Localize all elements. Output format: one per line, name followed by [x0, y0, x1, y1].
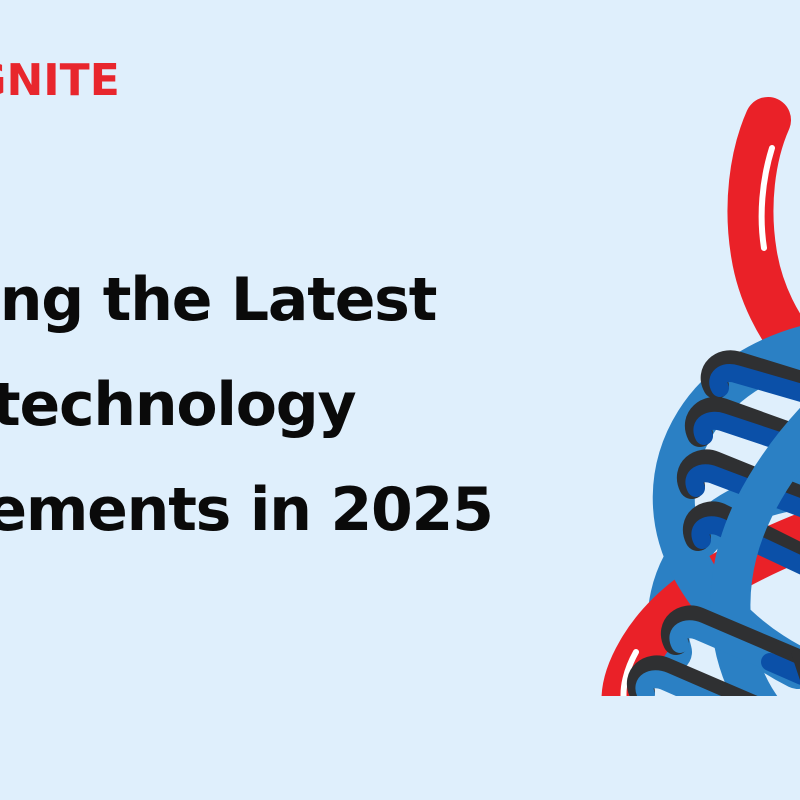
- site-logo[interactable]: IGNITE: [0, 54, 120, 108]
- headline-line-3: cements in 2025: [0, 458, 592, 563]
- page-title: ring the Latest otechnology cements in 2…: [0, 248, 592, 563]
- headline-line-1: ring the Latest: [0, 248, 592, 353]
- headline-line-2: otechnology: [0, 353, 592, 458]
- hero-banner: IGNITE ring the Latest otechnology cemen…: [0, 0, 800, 800]
- logo-wordmark: IGNITE: [0, 59, 120, 103]
- dna-helix-illustration: [540, 96, 800, 696]
